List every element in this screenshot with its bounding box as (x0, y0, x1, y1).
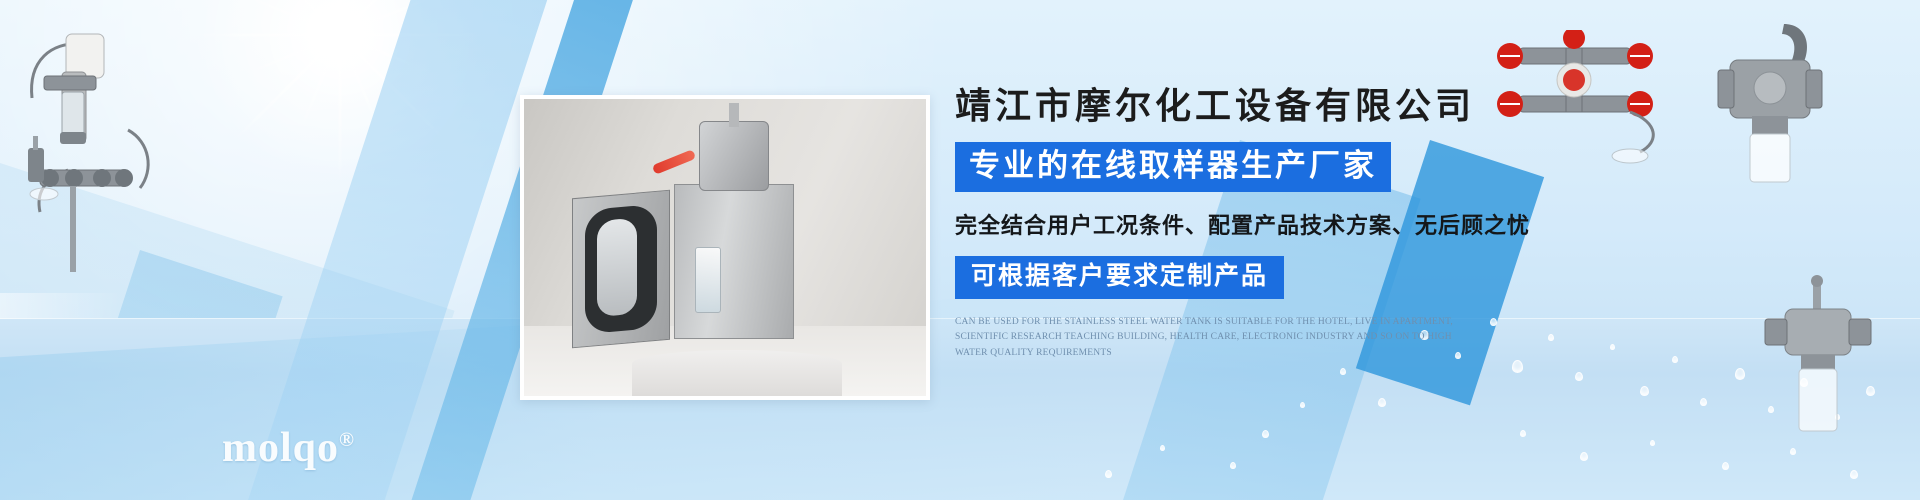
water-droplet-icon (1340, 368, 1346, 375)
water-droplet-icon (1850, 470, 1858, 479)
water-droplet-icon (1650, 440, 1655, 446)
promotional-banner: 靖江市摩尔化工设备有限公司 专业的在线取样器生产厂家 完全结合用户工况条件、配置… (0, 0, 1920, 500)
watermark-text: molqo (222, 425, 339, 471)
online-sampler-equipment-icon (10, 20, 190, 320)
photo-valve-stem (729, 103, 739, 127)
photo-door-window (597, 218, 637, 317)
product-photo-sampling-cabinet (520, 95, 930, 400)
photo-pedestal (632, 350, 842, 396)
water-droplet-icon (1575, 372, 1583, 381)
secondary-description: 完全结合用户工况条件、配置产品技术方案、无后顾之忧 (955, 208, 1745, 240)
photo-sample-bottle (695, 247, 721, 313)
primary-tagline-badge: 专业的在线取样器生产厂家 (955, 142, 1391, 192)
water-droplet-icon (1230, 462, 1236, 469)
marketing-text-block: 靖江市摩尔化工设备有限公司 专业的在线取样器生产厂家 完全结合用户工况条件、配置… (955, 85, 1745, 362)
photo-cabinet-door (572, 190, 670, 349)
photo-sampler-valve (699, 121, 769, 191)
water-droplet-icon (1700, 398, 1707, 406)
water-droplet-icon (1300, 402, 1305, 408)
registered-mark-icon: ® (339, 429, 355, 451)
water-droplet-icon (1105, 470, 1112, 478)
brand-watermark: molqo® (222, 424, 355, 472)
water-droplet-icon (1640, 386, 1649, 396)
water-droplet-icon (1735, 368, 1745, 380)
photo-cabinet-body (674, 184, 794, 339)
water-droplet-icon (1378, 398, 1386, 407)
water-droplet-icon (1512, 360, 1523, 373)
water-droplet-icon (1580, 452, 1588, 461)
company-name: 靖江市摩尔化工设备有限公司 (955, 85, 1745, 128)
water-droplet-icon (1262, 430, 1269, 438)
customization-tagline-badge: 可根据客户要求定制产品 (955, 256, 1284, 299)
english-description: CAN BE USED FOR THE STAINLESS STEEL WATE… (955, 315, 1460, 362)
water-droplet-icon (1160, 445, 1165, 451)
flanged-valve-equipment-icon (1755, 275, 1885, 465)
water-droplet-icon (1722, 462, 1729, 470)
water-droplet-icon (1520, 430, 1526, 437)
